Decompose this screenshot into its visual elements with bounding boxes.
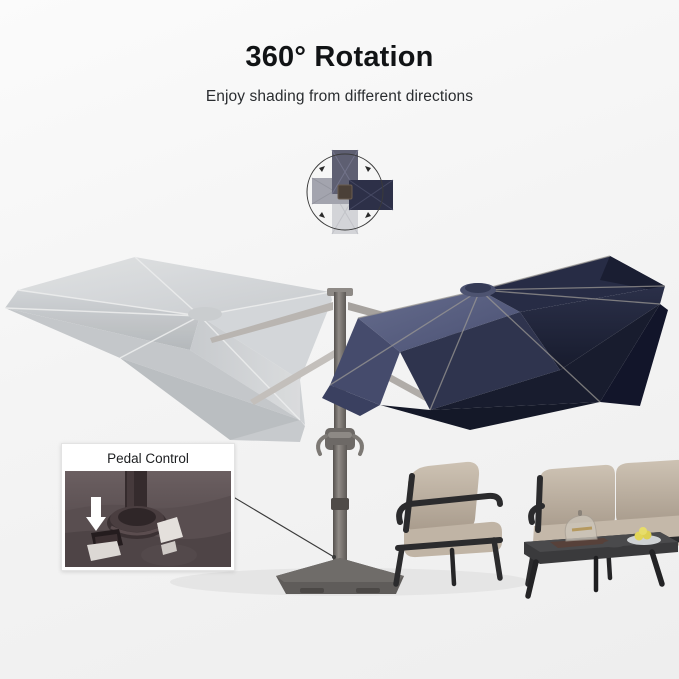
pedal-control-label: Pedal Control xyxy=(65,447,231,471)
page-subtitle: Enjoy shading from different directions xyxy=(0,88,679,106)
rotation-canopy-right xyxy=(349,180,393,210)
infographic-canvas: 360° Rotation Enjoy shading from differe… xyxy=(0,0,679,679)
navy-cantilever-umbrella xyxy=(322,256,668,430)
page-title: 360° Rotation xyxy=(0,41,679,74)
callout-leader-line xyxy=(230,495,340,563)
rotation-hub xyxy=(338,185,352,199)
pedal-control-callout: Pedal Control xyxy=(61,443,235,571)
pedal-control-photo xyxy=(65,471,231,567)
rotated-position-umbrella xyxy=(5,257,332,442)
360-rotation-diagram xyxy=(285,140,405,240)
patio-armchair xyxy=(396,462,502,584)
